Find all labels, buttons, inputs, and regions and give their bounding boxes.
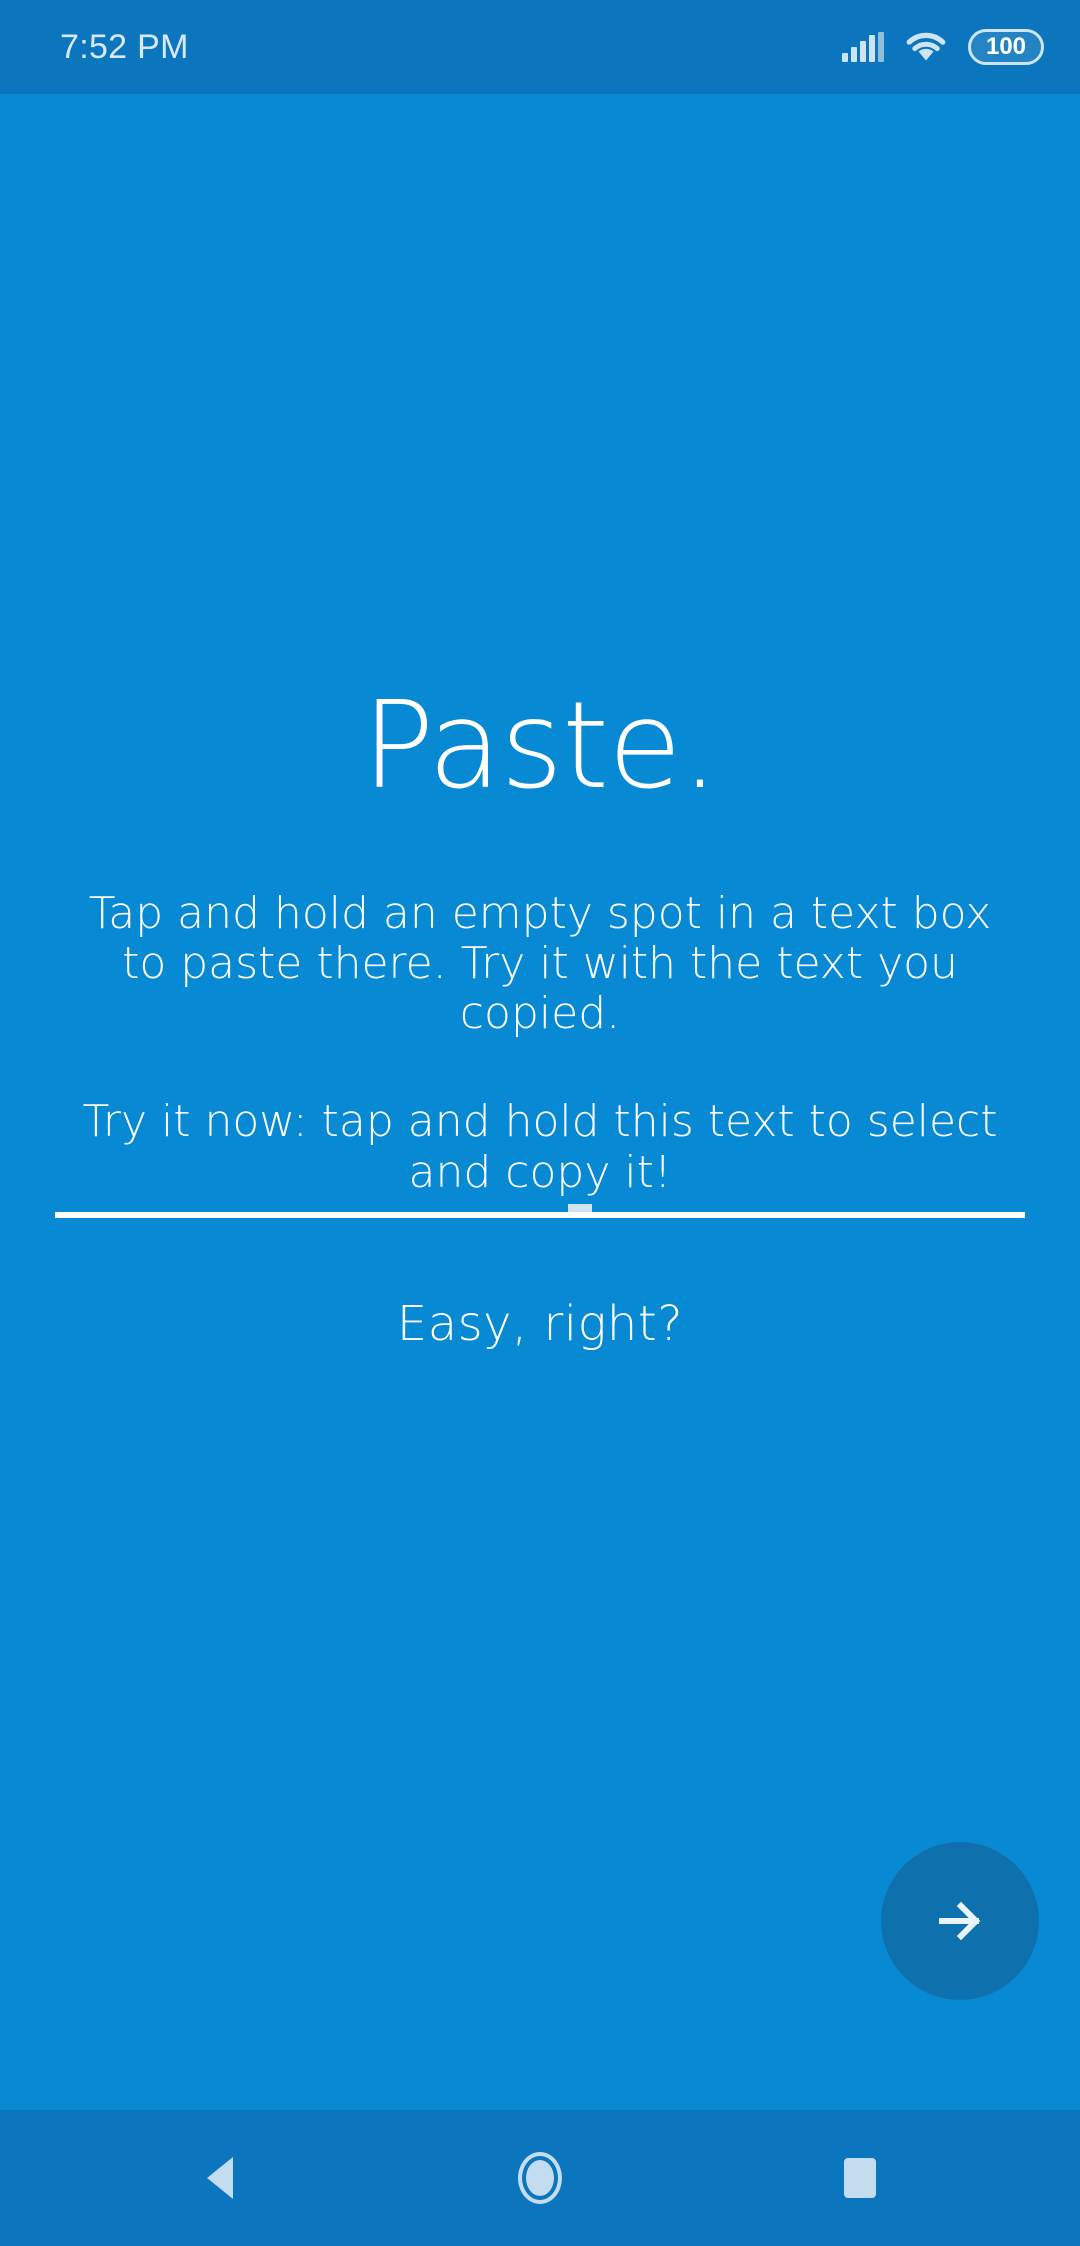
nav-home-button[interactable] — [492, 2130, 588, 2226]
copy-prompt-field[interactable]: Try it now: tap and hold this text to se… — [55, 1097, 1025, 1217]
copy-prompt-text[interactable]: Try it now: tap and hold this text to se… — [55, 1097, 1025, 1211]
wifi-icon — [904, 30, 948, 64]
home-circle-icon — [518, 2152, 562, 2204]
next-button[interactable] — [881, 1842, 1039, 2000]
nav-recents-button[interactable] — [812, 2130, 908, 2226]
phone-screen: 7:52 PM 100 Paste. Tap and hold an empty… — [0, 0, 1080, 2246]
tutorial-screen: Paste. Tap and hold an empty spot in a t… — [0, 94, 1080, 2110]
status-bar: 7:52 PM 100 — [0, 0, 1080, 94]
closing-text: Easy, right? — [397, 1300, 683, 1348]
android-navigation-bar — [0, 2110, 1080, 2246]
instruction-text: Tap and hold an empty spot in a text box… — [60, 889, 1020, 1039]
battery-level-label: 100 — [986, 35, 1026, 59]
nav-back-button[interactable] — [172, 2130, 268, 2226]
back-triangle-icon — [207, 2157, 233, 2199]
status-bar-icons: 100 — [842, 29, 1044, 65]
page-title: Paste. — [362, 687, 718, 807]
field-underline — [55, 1212, 1025, 1218]
text-caret — [568, 1204, 592, 1212]
recents-square-icon — [844, 2158, 876, 2198]
arrow-right-icon — [928, 1889, 992, 1953]
battery-icon: 100 — [968, 29, 1044, 65]
status-bar-clock: 7:52 PM — [60, 28, 189, 67]
signal-bars-icon — [842, 32, 884, 62]
